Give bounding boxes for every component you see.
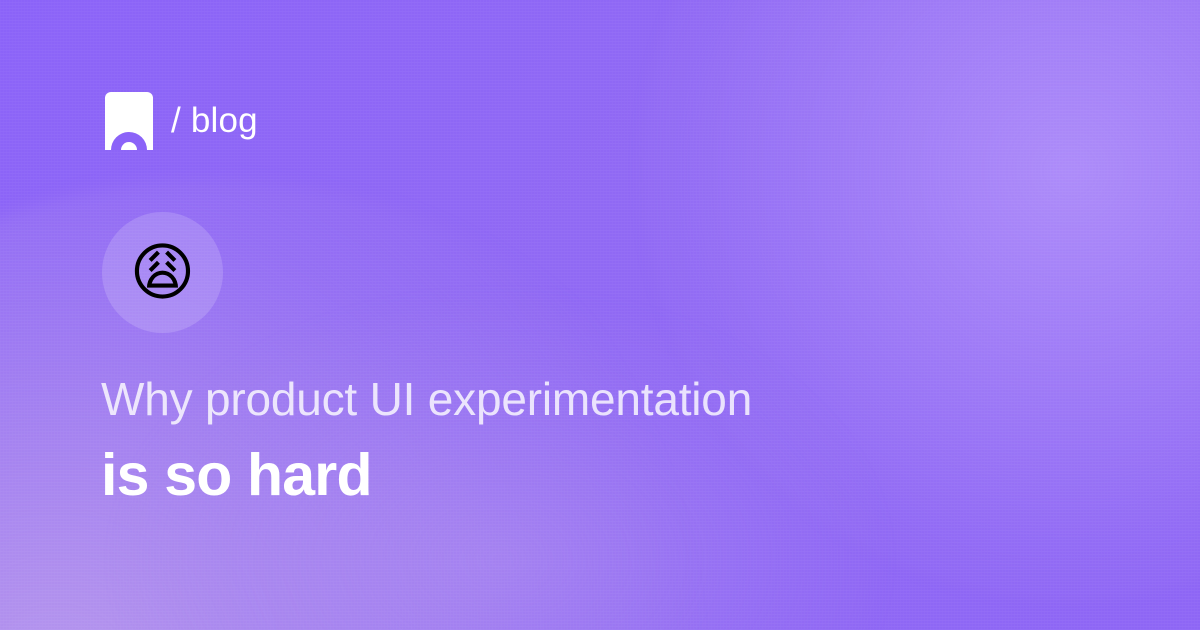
blog-og-card: / blog 😩 Why product UI experimentation … [0,0,1200,630]
card-content: / blog 😩 Why product UI experimentation … [0,0,1200,630]
headline-block: Why product UI experimentation is so har… [101,372,1101,511]
emoji-badge: 😩 [102,212,223,333]
rounded-square-arch-logo [101,92,157,150]
headline-kicker: Why product UI experimentation [101,372,1101,426]
brand-breadcrumb[interactable]: / blog [101,92,258,150]
weary-face-emoji: 😩 [130,241,196,304]
brand-logo[interactable] [101,92,157,150]
headline-main-title: is so hard [101,440,1101,511]
brand-section-label: / blog [171,103,258,140]
